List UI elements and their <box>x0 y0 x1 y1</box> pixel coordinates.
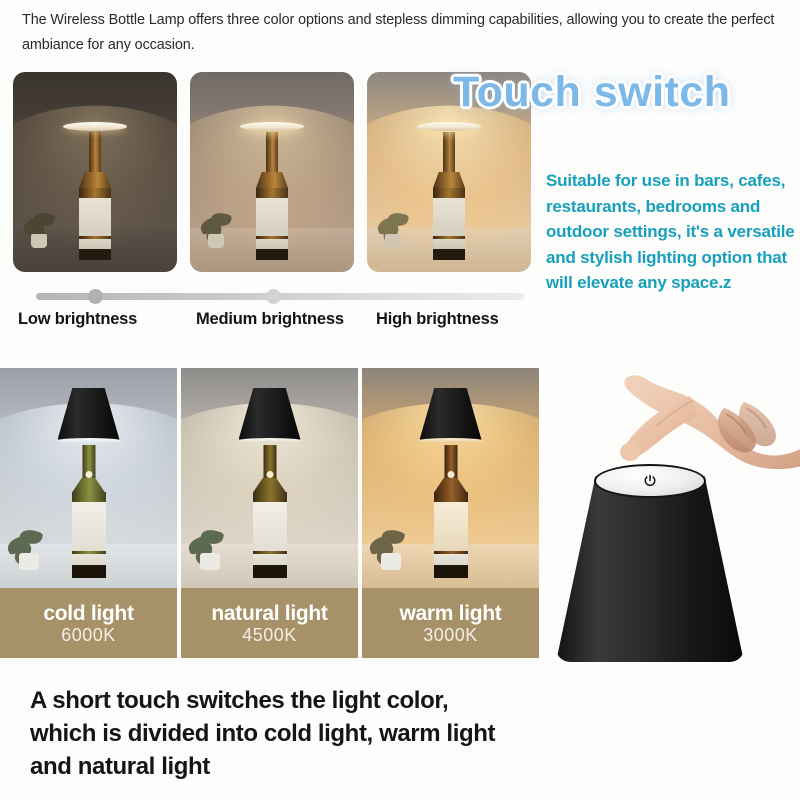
pointing-hand <box>620 352 800 480</box>
bottle-label-stripe <box>72 554 106 565</box>
slider-knob-medium[interactable] <box>266 289 281 304</box>
pot <box>381 553 401 570</box>
bottle-base <box>72 565 106 578</box>
color-temperature-photo-warm <box>362 368 539 588</box>
color-temperature-name: warm light <box>399 603 501 624</box>
decor-plant <box>377 208 411 248</box>
brightness-label-high: High brightness <box>376 310 536 329</box>
bottle-neck <box>266 132 278 176</box>
bottle-label-stripe <box>256 239 288 249</box>
bottle-label-stripe <box>79 239 111 249</box>
bottle-base <box>434 565 468 578</box>
decor-plant <box>23 208 57 248</box>
bottle-neck <box>89 132 101 176</box>
decor-plant <box>7 524 47 570</box>
color-temperature-bar-cold: cold light 6000K <box>0 588 177 658</box>
color-temperature-kelvin: 6000K <box>61 626 116 644</box>
bottle-base <box>253 565 287 578</box>
lamp-shade-rim <box>419 438 483 443</box>
bottle-highlight <box>85 471 92 478</box>
color-temperature-cell-warm: warm light 3000K <box>362 368 539 658</box>
touch-switch-headline: Touch switch <box>453 68 731 117</box>
color-temperature-photo-cold <box>0 368 177 588</box>
brightness-label-medium: Medium brightness <box>196 310 376 329</box>
bottom-caption: A short touch switches the light color, … <box>30 684 508 783</box>
bottle-label <box>256 198 288 236</box>
bottle-label-stripe <box>433 239 465 249</box>
color-temperature-grid: cold light 6000K natural li <box>0 368 538 658</box>
color-temperature-bar-natural: natural light 4500K <box>181 588 358 658</box>
brightness-label-low: Low brightness <box>18 310 196 329</box>
decor-plant <box>200 208 234 248</box>
color-temperature-name: cold light <box>43 603 133 624</box>
bottle-highlight <box>266 471 273 478</box>
bottle-label-stripe <box>434 554 468 565</box>
brightness-photo-low <box>13 72 177 272</box>
intro-paragraph: The Wireless Bottle Lamp offers three co… <box>22 8 784 58</box>
pot <box>31 234 47 248</box>
pot <box>208 234 224 248</box>
bottle-label <box>253 502 287 550</box>
bottle-highlight <box>447 471 454 478</box>
color-temperature-cell-natural: natural light 4500K <box>181 368 358 658</box>
lamp-base-product-shot <box>556 464 744 664</box>
bottle-label <box>72 502 106 550</box>
pot <box>19 553 39 570</box>
lamp-shade-rim <box>57 438 121 443</box>
bottle-base <box>433 249 465 260</box>
lamp-shade-rim <box>238 438 302 443</box>
bottle-neck <box>443 132 455 176</box>
bottle-label <box>434 502 468 550</box>
brightness-photo-medium <box>190 72 354 272</box>
disc-shade <box>63 122 127 131</box>
decor-plant <box>188 524 228 570</box>
bottle-label-stripe <box>253 554 287 565</box>
bottle-base <box>79 249 111 260</box>
slider-knob-low[interactable] <box>88 289 103 304</box>
color-temperature-kelvin: 4500K <box>242 626 297 644</box>
color-temperature-kelvin: 3000K <box>423 626 478 644</box>
usage-description: Suitable for use in bars, cafes, restaur… <box>546 168 800 296</box>
bottle-base <box>256 249 288 260</box>
color-temperature-bar-warm: warm light 3000K <box>362 588 539 658</box>
brightness-labels: Low brightness Medium brightness High br… <box>18 310 538 329</box>
disc-shade <box>240 122 304 131</box>
pot <box>200 553 220 570</box>
disc-shade <box>417 122 481 131</box>
bottle-label <box>79 198 111 236</box>
bottle-label <box>433 198 465 236</box>
color-temperature-cell-cold: cold light 6000K <box>0 368 177 658</box>
color-temperature-name: natural light <box>211 603 327 624</box>
brightness-slider[interactable] <box>36 288 524 304</box>
color-temperature-photo-natural <box>181 368 358 588</box>
decor-plant <box>369 524 409 570</box>
pot <box>385 234 401 248</box>
lamp-base-body <box>556 476 744 662</box>
